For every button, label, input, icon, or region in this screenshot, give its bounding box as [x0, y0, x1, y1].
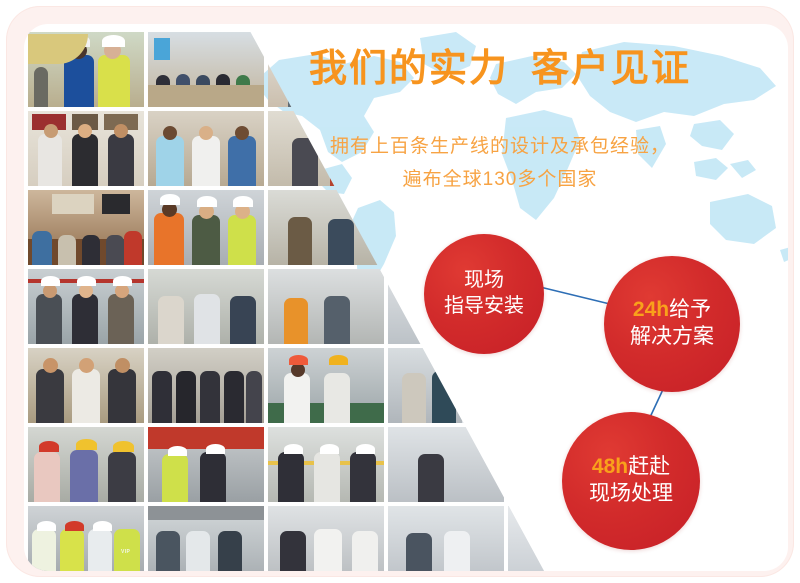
bubble-onsite-line-1: 现场 [464, 268, 504, 294]
headline: 我们的实力客户见证 [250, 48, 750, 91]
bubble-24h-line-1-rest: 给予 [669, 298, 711, 321]
bubble-onsite-installation[interactable]: 现场 指导安装 [424, 234, 544, 354]
photo-cell [148, 111, 264, 186]
photo-cell [28, 32, 144, 107]
subheadline: 拥有上百条生产线的设计及承包经验， 遍布全球130多个国家 [250, 130, 750, 197]
photo-cell [268, 269, 384, 344]
photo-cell [148, 427, 264, 502]
photo-cell [28, 111, 144, 186]
photo-cell [28, 427, 144, 502]
photo-cell [268, 506, 384, 571]
photo-cell [148, 190, 264, 265]
bubble-48h-dispatch[interactable]: 48h赶赴 现场处理 [562, 412, 700, 550]
bubble-24h-line-2: 解决方案 [630, 324, 714, 351]
photo-cell [148, 32, 264, 107]
photo-cell [268, 348, 384, 423]
bubble-24h-line-1: 24h给予 [633, 297, 711, 324]
photo-cell [388, 506, 504, 571]
photo-cell [388, 348, 504, 423]
subheadline-line-2: 遍布全球130多个国家 [250, 163, 750, 196]
photo-cell [508, 348, 624, 423]
subheadline-line-1: 拥有上百条生产线的设计及承包经验， [250, 130, 750, 163]
photo-cell [148, 506, 264, 571]
headline-right: 客户见证 [531, 48, 691, 90]
bubble-48h-highlight: 48h [592, 455, 628, 478]
promo-banner: VIP [0, 0, 800, 583]
bubble-24h-highlight: 24h [633, 298, 669, 321]
bubble-48h-line-2: 现场处理 [589, 481, 673, 508]
bubble-48h-line-1: 48h赶赴 [592, 454, 670, 481]
photo-cell [148, 269, 264, 344]
photo-cell [28, 269, 144, 344]
photo-cell [268, 190, 384, 265]
headline-left: 我们的实力 [309, 48, 509, 90]
photo-cell [28, 190, 144, 265]
photo-cell [388, 427, 504, 502]
bubble-24h-solution[interactable]: 24h给予 解决方案 [604, 256, 740, 392]
bubble-48h-line-1-rest: 赶赴 [628, 455, 670, 478]
bubble-onsite-line-2: 指导安装 [444, 294, 524, 320]
photo-cell [28, 348, 144, 423]
photo-cell [268, 427, 384, 502]
photo-cell: VIP [28, 506, 144, 571]
photo-cell [148, 348, 264, 423]
